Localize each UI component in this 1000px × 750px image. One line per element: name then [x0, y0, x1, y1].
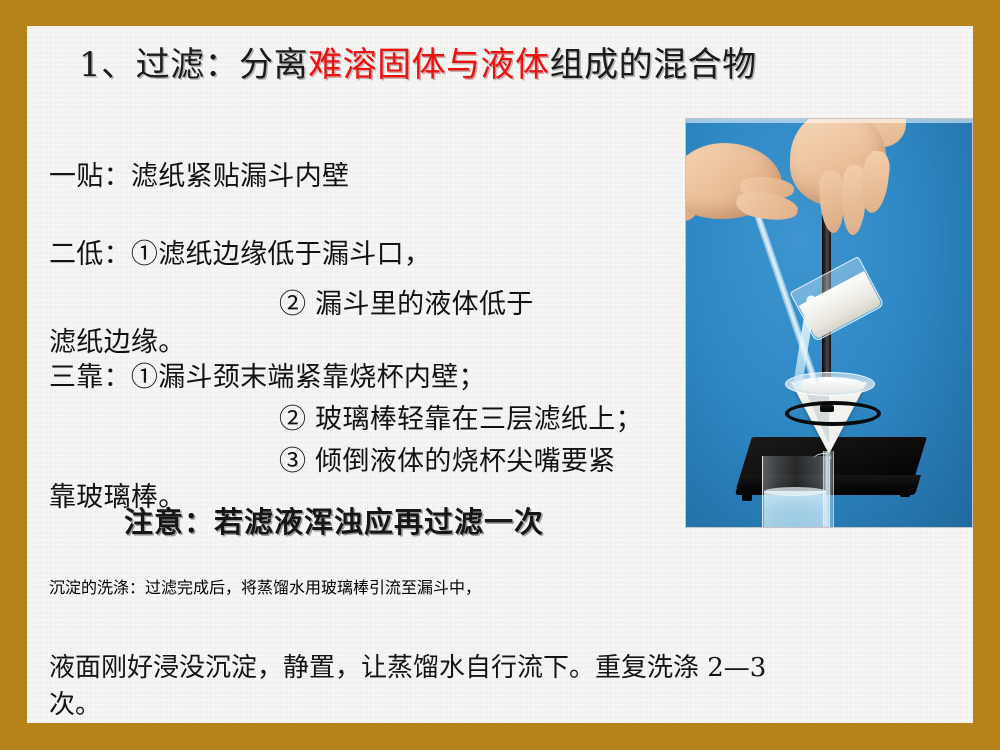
washing-line-3: 次。 — [49, 688, 101, 722]
stand-foot-right — [900, 489, 910, 497]
title-part-2: 组成的混合物 — [550, 45, 757, 85]
iron-ring — [785, 401, 881, 426]
filter-paper — [793, 377, 865, 393]
stand-foot-left — [742, 493, 752, 501]
washing-lead-label: 沉淀的洗涤： — [49, 578, 145, 597]
slide-root: 1、过滤：分离难溶固体与液体组成的混合物 一贴：滤纸紧贴漏斗内壁 二低：①滤纸边… — [0, 0, 1000, 750]
slide-canvas: 1、过滤：分离难溶固体与液体组成的混合物 一贴：滤纸紧贴漏斗内壁 二低：①滤纸边… — [27, 26, 973, 723]
note-line: 注意：若滤液浑浊应再过滤一次 — [124, 503, 544, 541]
rule-line-yitie: 一贴：滤纸紧贴漏斗内壁 — [49, 160, 349, 194]
rule-line-sankao-2: ② 玻璃棒轻靠在三层滤纸上； — [279, 403, 643, 437]
funnel-stem — [823, 451, 834, 527]
rule-line-sankao-1: 三靠：①漏斗颈末端紧靠烧杯内壁； — [49, 361, 486, 395]
washing-line-1-rest: 过滤完成后，将蒸馏水用玻璃棒引流至漏斗中， — [145, 578, 481, 597]
title-highlight: 难溶固体与液体 — [308, 45, 550, 85]
rule-line-erdi-3: 滤纸边缘。 — [49, 326, 186, 360]
title-part-1: 1、过滤：分离 — [79, 45, 308, 85]
rule-line-erdi-1: 二低：①滤纸边缘低于漏斗口， — [49, 238, 431, 272]
rule-line-sankao-3: ③ 倾倒液体的烧杯尖嘴要紧 — [279, 445, 615, 479]
washing-line-1: 沉淀的洗涤：过滤完成后，将蒸馏水用玻璃棒引流至漏斗中， — [49, 574, 481, 598]
photo-top-edge — [686, 119, 972, 123]
beaker-filtrate-liquid — [764, 491, 826, 527]
washing-line-2: 液面刚好浸没沉淀，静置，让蒸馏水自行流下。重复洗涤 2—3 — [49, 651, 766, 685]
rule-line-erdi-2: ② 漏斗里的液体低于 — [279, 288, 534, 322]
filtration-apparatus-photo — [686, 119, 972, 527]
page-title: 1、过滤：分离难溶固体与液体组成的混合物 — [79, 43, 757, 87]
beaker-liquid-surface — [764, 487, 826, 496]
